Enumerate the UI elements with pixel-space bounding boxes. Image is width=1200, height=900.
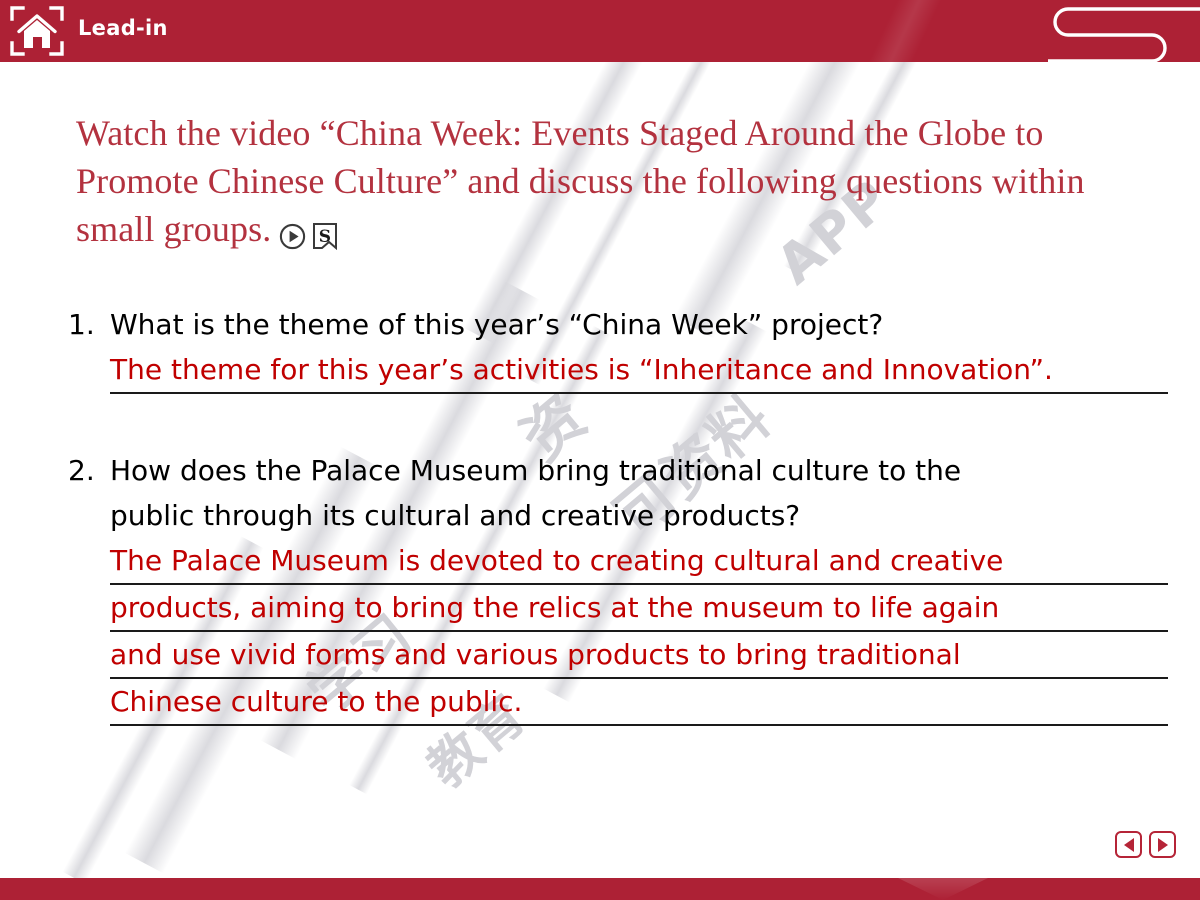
play-circle-icon[interactable] [279,214,306,262]
question-prompt-row: 2. How does the Palace Museum bring trad… [68,448,1168,538]
previous-slide-button[interactable] [1115,831,1142,858]
top-header-bar: Lead-in [0,0,1200,62]
lead-in-instruction: Watch the video “China Week: Events Stag… [76,109,1162,262]
footer-notch-decoration [898,878,988,900]
svg-text:S: S [319,227,331,247]
question-number: 1. [68,302,110,347]
answer-line: The theme for this year’s activities is … [110,347,1168,394]
question-block-1: 1. What is the theme of this year’s “Chi… [68,302,1168,394]
triangle-right-icon [1158,838,1168,852]
home-icon[interactable] [8,4,66,58]
question-block-2: 2. How does the Palace Museum bring trad… [68,448,1168,726]
question-number: 2. [68,448,110,493]
question-prompt-line: public through its cultural and creative… [110,493,1168,538]
slide-navigation [1115,831,1176,858]
question-prompt-line: What is the theme of this year’s “China … [110,302,1168,347]
question-prompt-line: How does the Palace Museum bring traditi… [110,448,1168,493]
answer-line: The Palace Museum is devoted to creating… [110,538,1168,585]
next-slide-button[interactable] [1149,831,1176,858]
answer-lines: The theme for this year’s activities is … [110,347,1168,394]
answer-lines: The Palace Museum is devoted to creating… [110,538,1168,726]
bottom-footer-bar [0,878,1200,900]
script-s-icon[interactable]: S [312,214,338,262]
answer-line: and use vivid forms and various products… [110,632,1168,679]
triangle-left-icon [1124,838,1134,852]
media-icon-group: S [279,210,344,262]
page-title: Lead-in [78,16,168,40]
answer-line: Chinese culture to the public. [110,679,1168,726]
lead-in-instruction-text: Watch the video “China Week: Events Stag… [76,113,1085,249]
question-prompt-row: 1. What is the theme of this year’s “Chi… [68,302,1168,347]
slide-content: Watch the video “China Week: Events Stag… [0,62,1200,880]
serpentine-line-decoration [940,0,1200,62]
answer-line: products, aiming to bring the relics at … [110,585,1168,632]
